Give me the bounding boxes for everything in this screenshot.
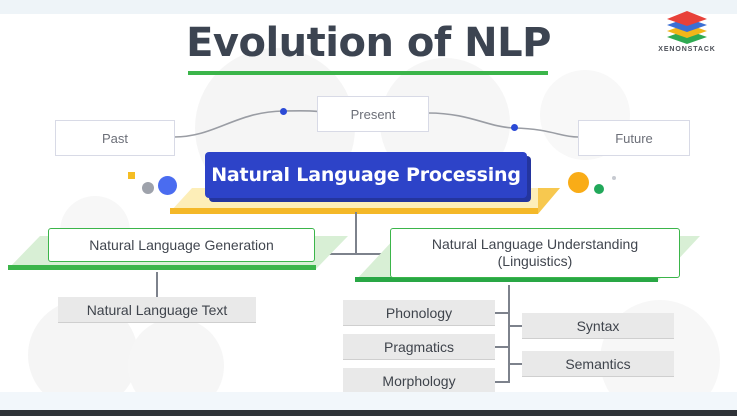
top-band xyxy=(0,0,737,14)
leaf-morphology[interactable]: Morphology xyxy=(343,368,495,394)
xenonstack-logo: XENONSTACK xyxy=(655,10,719,62)
connector-phonology xyxy=(494,312,509,314)
green-dot-icon xyxy=(594,184,604,194)
infographic-canvas: Evolution of NLP XENONSTACK Past Present… xyxy=(0,0,737,416)
bottom-edge-strip xyxy=(0,410,737,416)
logo-mark-icon xyxy=(655,10,719,44)
timeline-node-past[interactable]: Past xyxy=(55,120,175,156)
connector-generation-leaf xyxy=(156,272,158,298)
leaf-label: Morphology xyxy=(382,373,455,389)
leaf-label: Natural Language Text xyxy=(87,302,228,318)
grey-dot-icon xyxy=(142,182,154,194)
leaf-natural-language-text[interactable]: Natural Language Text xyxy=(58,297,256,323)
leaf-label: Phonology xyxy=(386,305,452,321)
leaf-semantics[interactable]: Semantics xyxy=(522,351,674,377)
leaf-phonology[interactable]: Phonology xyxy=(343,300,495,326)
branch-label-line1: Natural Language Understanding xyxy=(432,236,638,252)
orange-dot-icon xyxy=(568,172,589,193)
connector-pragmatics xyxy=(494,346,509,348)
title-underline xyxy=(188,71,548,75)
connector-understanding-spine xyxy=(508,285,510,383)
branch-node-understanding[interactable]: Natural Language Understanding (Linguist… xyxy=(390,228,680,278)
root-node-nlp[interactable]: Natural Language Processing xyxy=(205,152,527,198)
branch-label-line2: (Linguistics) xyxy=(498,253,573,269)
leaf-pragmatics[interactable]: Pragmatics xyxy=(343,334,495,360)
leaf-label: Semantics xyxy=(565,356,630,372)
timeline-label: Present xyxy=(351,107,396,122)
leaf-label: Pragmatics xyxy=(384,339,454,355)
tiny-grey-dot-icon xyxy=(612,176,616,180)
root-node-label: Natural Language Processing xyxy=(211,164,521,186)
branch-node-generation[interactable]: Natural Language Generation xyxy=(48,228,315,262)
connector-morphology xyxy=(494,381,509,383)
timeline-node-future[interactable]: Future xyxy=(578,120,690,156)
timeline-node-present[interactable]: Present xyxy=(317,96,429,132)
branch-label: Natural Language Understanding (Linguist… xyxy=(432,236,638,270)
branch-label: Natural Language Generation xyxy=(89,237,273,254)
page-title: Evolution of NLP xyxy=(0,20,737,66)
bottom-band xyxy=(0,392,737,410)
yellow-square-dot-icon xyxy=(128,172,135,179)
leaf-syntax[interactable]: Syntax xyxy=(522,313,674,339)
timeline-marker-dot xyxy=(511,124,518,131)
logo-wordmark: XENONSTACK xyxy=(655,46,719,53)
leaf-label: Syntax xyxy=(577,318,620,334)
timeline-label: Past xyxy=(102,131,128,146)
connector-semantics xyxy=(508,363,523,365)
timeline-label: Future xyxy=(615,131,653,146)
timeline-marker-dot xyxy=(280,108,287,115)
connector-syntax xyxy=(508,325,523,327)
